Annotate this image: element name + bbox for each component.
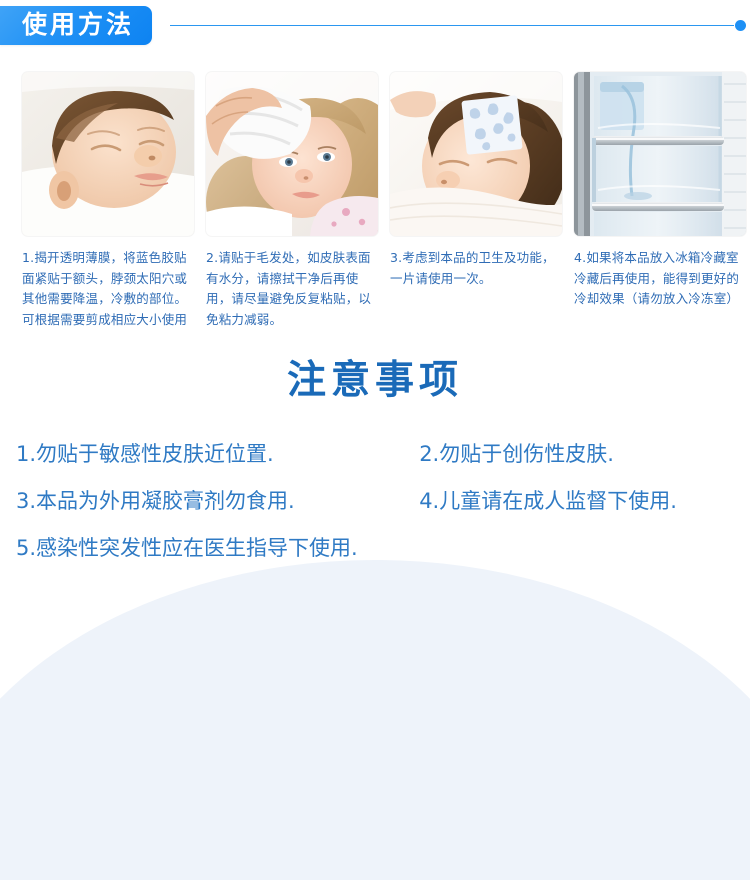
usage-steps-row: 1.揭开透明薄膜，将蓝色胶贴面紧贴于额头，脖颈太阳穴或其他需要降温，冷敷的部位。… <box>0 56 750 331</box>
usage-step-caption: 3.考虑到本品的卫生及功能，一片请使用一次。 <box>390 248 562 289</box>
usage-step-caption: 4.如果将本品放入冰箱冷藏室冷藏后再使用，能得到更好的冷却效果（请勿放入冷冻室） <box>574 248 746 310</box>
usage-step-caption: 2.请贴于毛发处，如皮肤表面有水分，请擦拭干净后再使用，请尽量避免反复粘贴，以免… <box>206 248 378 331</box>
usage-step-caption: 1.揭开透明薄膜，将蓝色胶贴面紧贴于额头，脖颈太阳穴或其他需要降温，冷敷的部位。… <box>22 248 194 331</box>
usage-step: 1.揭开透明薄膜，将蓝色胶贴面紧贴于额头，脖颈太阳穴或其他需要降温，冷敷的部位。… <box>22 72 194 331</box>
precautions-title: 注意事项 <box>0 349 750 405</box>
precautions-section: 注意事项 1.勿贴于敏感性皮肤近位置. 2.勿贴于创伤性皮肤. 3.本品为外用凝… <box>0 349 750 572</box>
end-dot-icon <box>735 20 746 31</box>
usage-step: 2.请贴于毛发处，如皮肤表面有水分，请擦拭干净后再使用，请尽量避免反复粘贴，以免… <box>206 72 378 331</box>
precaution-item: 4.儿童请在成人监督下使用. <box>419 478 736 525</box>
usage-step: 3.考虑到本品的卫生及功能，一片请使用一次。 <box>390 72 562 331</box>
precautions-list: 1.勿贴于敏感性皮肤近位置. 2.勿贴于创伤性皮肤. 3.本品为外用凝胶膏剂勿食… <box>0 431 750 572</box>
precaution-item: 1.勿贴于敏感性皮肤近位置. <box>16 431 419 478</box>
child-with-towel-on-forehead-photo <box>206 72 378 236</box>
usage-method-badge-label: 使用方法 <box>22 13 134 38</box>
usage-step: 4.如果将本品放入冰箱冷藏室冷藏后再使用，能得到更好的冷却效果（请勿放入冷冻室） <box>574 72 746 331</box>
usage-method-badge: 使用方法 <box>0 6 152 45</box>
bottom-decorative-wave <box>0 560 750 880</box>
precaution-item: 3.本品为外用凝胶膏剂勿食用. <box>16 478 419 525</box>
child-with-cooling-patch-photo <box>390 72 562 236</box>
header-rule-icon <box>170 25 734 26</box>
precaution-item: 5.感染性突发性应在医生指导下使用. <box>16 525 736 572</box>
sleeping-baby-photo <box>22 72 194 236</box>
refrigerator-interior-photo <box>574 72 746 236</box>
precaution-item: 2.勿贴于创伤性皮肤. <box>419 431 736 478</box>
section-header: 使用方法 <box>0 0 750 56</box>
